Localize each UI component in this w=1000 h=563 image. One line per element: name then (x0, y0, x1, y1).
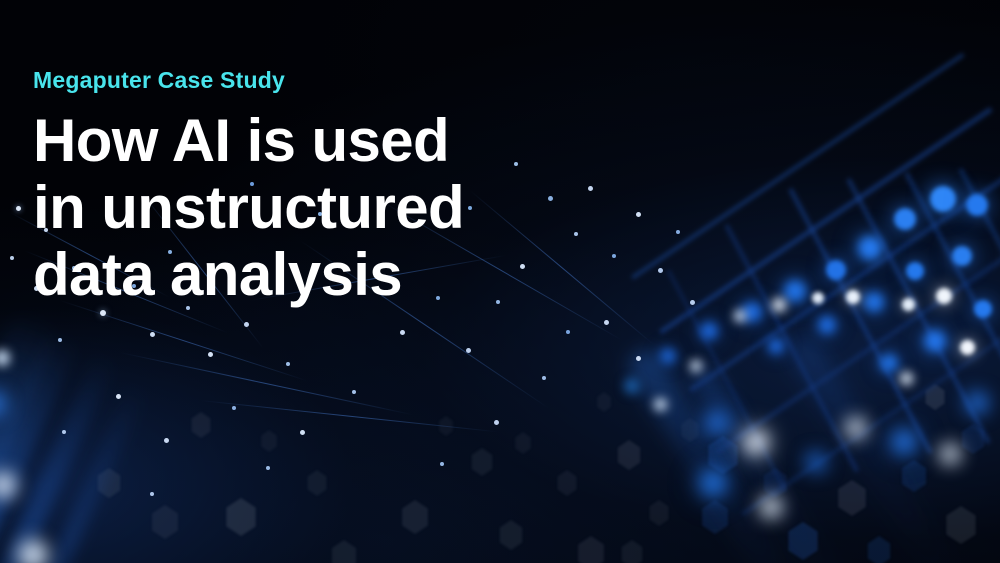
glow-node-blue (0, 392, 6, 416)
glow-node-blue (952, 246, 972, 266)
glow-node-blue (700, 322, 718, 340)
light-band (0, 309, 59, 563)
glow-node-white (960, 340, 975, 355)
glow-node-white (0, 472, 16, 498)
hexagon-shape (960, 424, 986, 454)
headline-line-1: How AI is used (33, 107, 653, 174)
network-dot (164, 438, 169, 443)
network-dot (604, 320, 609, 325)
hexagon-shape (706, 436, 740, 474)
glow-node-white (734, 310, 746, 322)
network-dot (100, 310, 106, 316)
network-dot (636, 356, 641, 361)
glow-node-white (846, 290, 860, 304)
hero-content: Megaputer Case Study How AI is used in u… (33, 68, 653, 308)
glow-node-blue (784, 280, 806, 302)
hexagon-shape (576, 536, 606, 563)
network-dot (16, 206, 21, 211)
glow-node-white (760, 496, 782, 518)
network-dot (400, 330, 405, 335)
hexagon-shape (224, 498, 258, 536)
network-dot (208, 352, 213, 357)
glow-node-white (940, 444, 960, 464)
hexagon-shape (498, 520, 524, 550)
network-dot (62, 430, 66, 434)
hexagon-shape (616, 440, 642, 470)
glow-node-white (18, 540, 48, 563)
hexagon-shape (900, 460, 928, 492)
network-dot (244, 322, 249, 327)
glow-node-white (654, 398, 667, 411)
mesh-line (689, 170, 1000, 392)
glow-node-blue (864, 292, 884, 312)
network-dot (286, 362, 290, 366)
light-band (785, 331, 969, 563)
hexagon-shape (400, 500, 430, 534)
glow-node-blue (892, 430, 916, 454)
glow-node-blue (966, 194, 988, 216)
glow-node-blue (742, 302, 762, 322)
hexagon-shape (306, 470, 328, 496)
mesh-line (715, 249, 1000, 454)
hexagon-shape (438, 416, 454, 436)
glow-node-blue (924, 330, 946, 352)
hexagon-shape (260, 430, 278, 452)
network-dot (566, 330, 570, 334)
glow-node-blue (768, 338, 784, 354)
network-dot (542, 376, 546, 380)
mesh-line (724, 223, 860, 473)
page-title: How AI is used in unstructured data anal… (33, 107, 653, 308)
hexagon-shape (330, 540, 358, 563)
hexagon-shape (786, 522, 820, 560)
network-dot (266, 466, 270, 470)
glow-node-white (846, 418, 866, 438)
mesh-line (846, 177, 991, 444)
network-dot (150, 492, 154, 496)
connector-line (120, 352, 414, 415)
mesh-line (666, 269, 787, 492)
hexagon-shape (96, 468, 122, 498)
network-dot (58, 338, 62, 342)
hero-banner: Megaputer Case Study How AI is used in u… (0, 0, 1000, 563)
glow-node-white (902, 298, 915, 311)
glow-node-blue (880, 354, 898, 372)
network-dot (466, 348, 471, 353)
glow-node-blue (624, 378, 640, 394)
network-dot (116, 394, 121, 399)
hexagon-shape (514, 432, 532, 454)
headline-line-2: in unstructured (33, 174, 653, 241)
glow-node-white (744, 430, 768, 454)
glow-node-white (812, 292, 824, 304)
connector-line (60, 300, 308, 381)
hexagon-shape (556, 470, 578, 496)
hexagon-shape (762, 468, 788, 498)
glow-node-blue (974, 300, 992, 318)
light-band (623, 344, 811, 563)
hexagon-shape (190, 412, 212, 438)
hexagon-shape (596, 392, 612, 412)
glow-node-blue (906, 262, 924, 280)
glow-node-white (690, 360, 702, 372)
network-dot (150, 332, 155, 337)
mesh-line (788, 187, 933, 454)
hexagon-shape (924, 384, 946, 410)
mesh-line (904, 171, 1000, 438)
hexagon-shape (680, 418, 700, 442)
glow-node-blue (966, 392, 988, 414)
glow-node-white (0, 350, 10, 366)
glow-node-blue (806, 452, 826, 472)
light-band (686, 360, 856, 563)
network-dot (440, 462, 444, 466)
glow-node-blue (818, 316, 836, 334)
hexagon-shape (836, 480, 868, 516)
hexagon-shape (648, 500, 670, 526)
glow-node-blue (930, 186, 956, 212)
network-dot (690, 300, 695, 305)
network-dot (676, 230, 680, 234)
network-dot (300, 430, 305, 435)
mesh-line (958, 167, 1000, 434)
hexagon-shape (944, 506, 978, 544)
glow-node-blue (700, 470, 726, 496)
hexagon-shape (866, 536, 892, 563)
network-dot (232, 406, 236, 410)
connector-line (200, 400, 498, 432)
headline-line-3: data analysis (33, 241, 653, 308)
light-band (0, 352, 116, 563)
network-dot (10, 256, 14, 260)
mesh-line (659, 107, 993, 335)
network-dot (658, 268, 663, 273)
hexagon-shape (620, 540, 644, 563)
glow-node-white (900, 372, 913, 385)
light-band (0, 383, 146, 563)
glow-node-blue (660, 348, 676, 364)
network-dot (352, 390, 356, 394)
glow-node-white (936, 288, 952, 304)
glow-node-blue (706, 412, 728, 434)
hexagon-shape (700, 500, 730, 534)
glow-node-white (772, 298, 786, 312)
light-band (0, 329, 80, 563)
glow-node-blue (858, 236, 882, 260)
eyebrow-label: Megaputer Case Study (33, 68, 653, 93)
glow-node-blue (894, 208, 916, 230)
hexagon-shape (470, 448, 494, 476)
glow-node-blue (826, 260, 846, 280)
mesh-line (741, 328, 1000, 517)
network-dot (494, 420, 499, 425)
hexagon-shape (150, 505, 180, 539)
mesh-line (631, 53, 965, 280)
